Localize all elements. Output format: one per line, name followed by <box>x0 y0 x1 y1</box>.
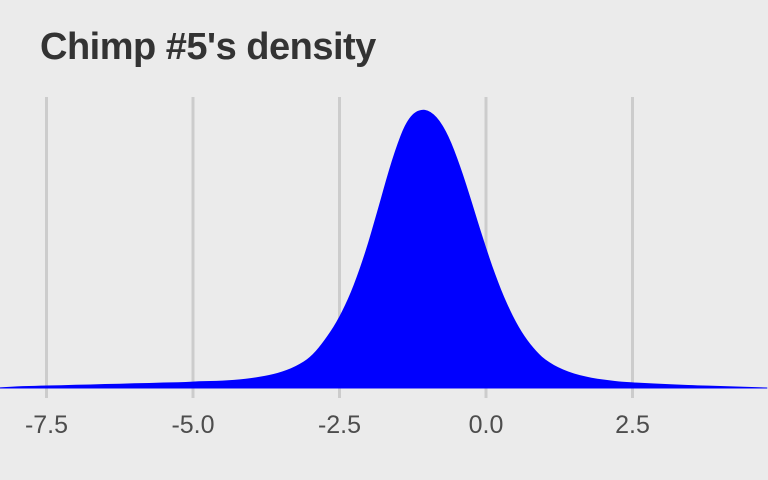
x-tick-label-4: 2.5 <box>615 411 650 439</box>
x-tick-label-0: -7.5 <box>25 411 68 439</box>
density-area-group <box>0 110 767 388</box>
density-chart: Chimp #5's density -7.5-5.0-2.50.02.5 <box>0 0 768 480</box>
x-tick-label-1: -5.0 <box>171 411 214 439</box>
x-axis-tick-labels: -7.5-5.0-2.50.02.5 <box>25 411 650 439</box>
density-area <box>0 110 767 388</box>
x-tick-label-2: -2.5 <box>318 411 361 439</box>
plot-area: -7.5-5.0-2.50.02.5 <box>0 0 768 480</box>
x-tick-label-3: 0.0 <box>469 411 504 439</box>
